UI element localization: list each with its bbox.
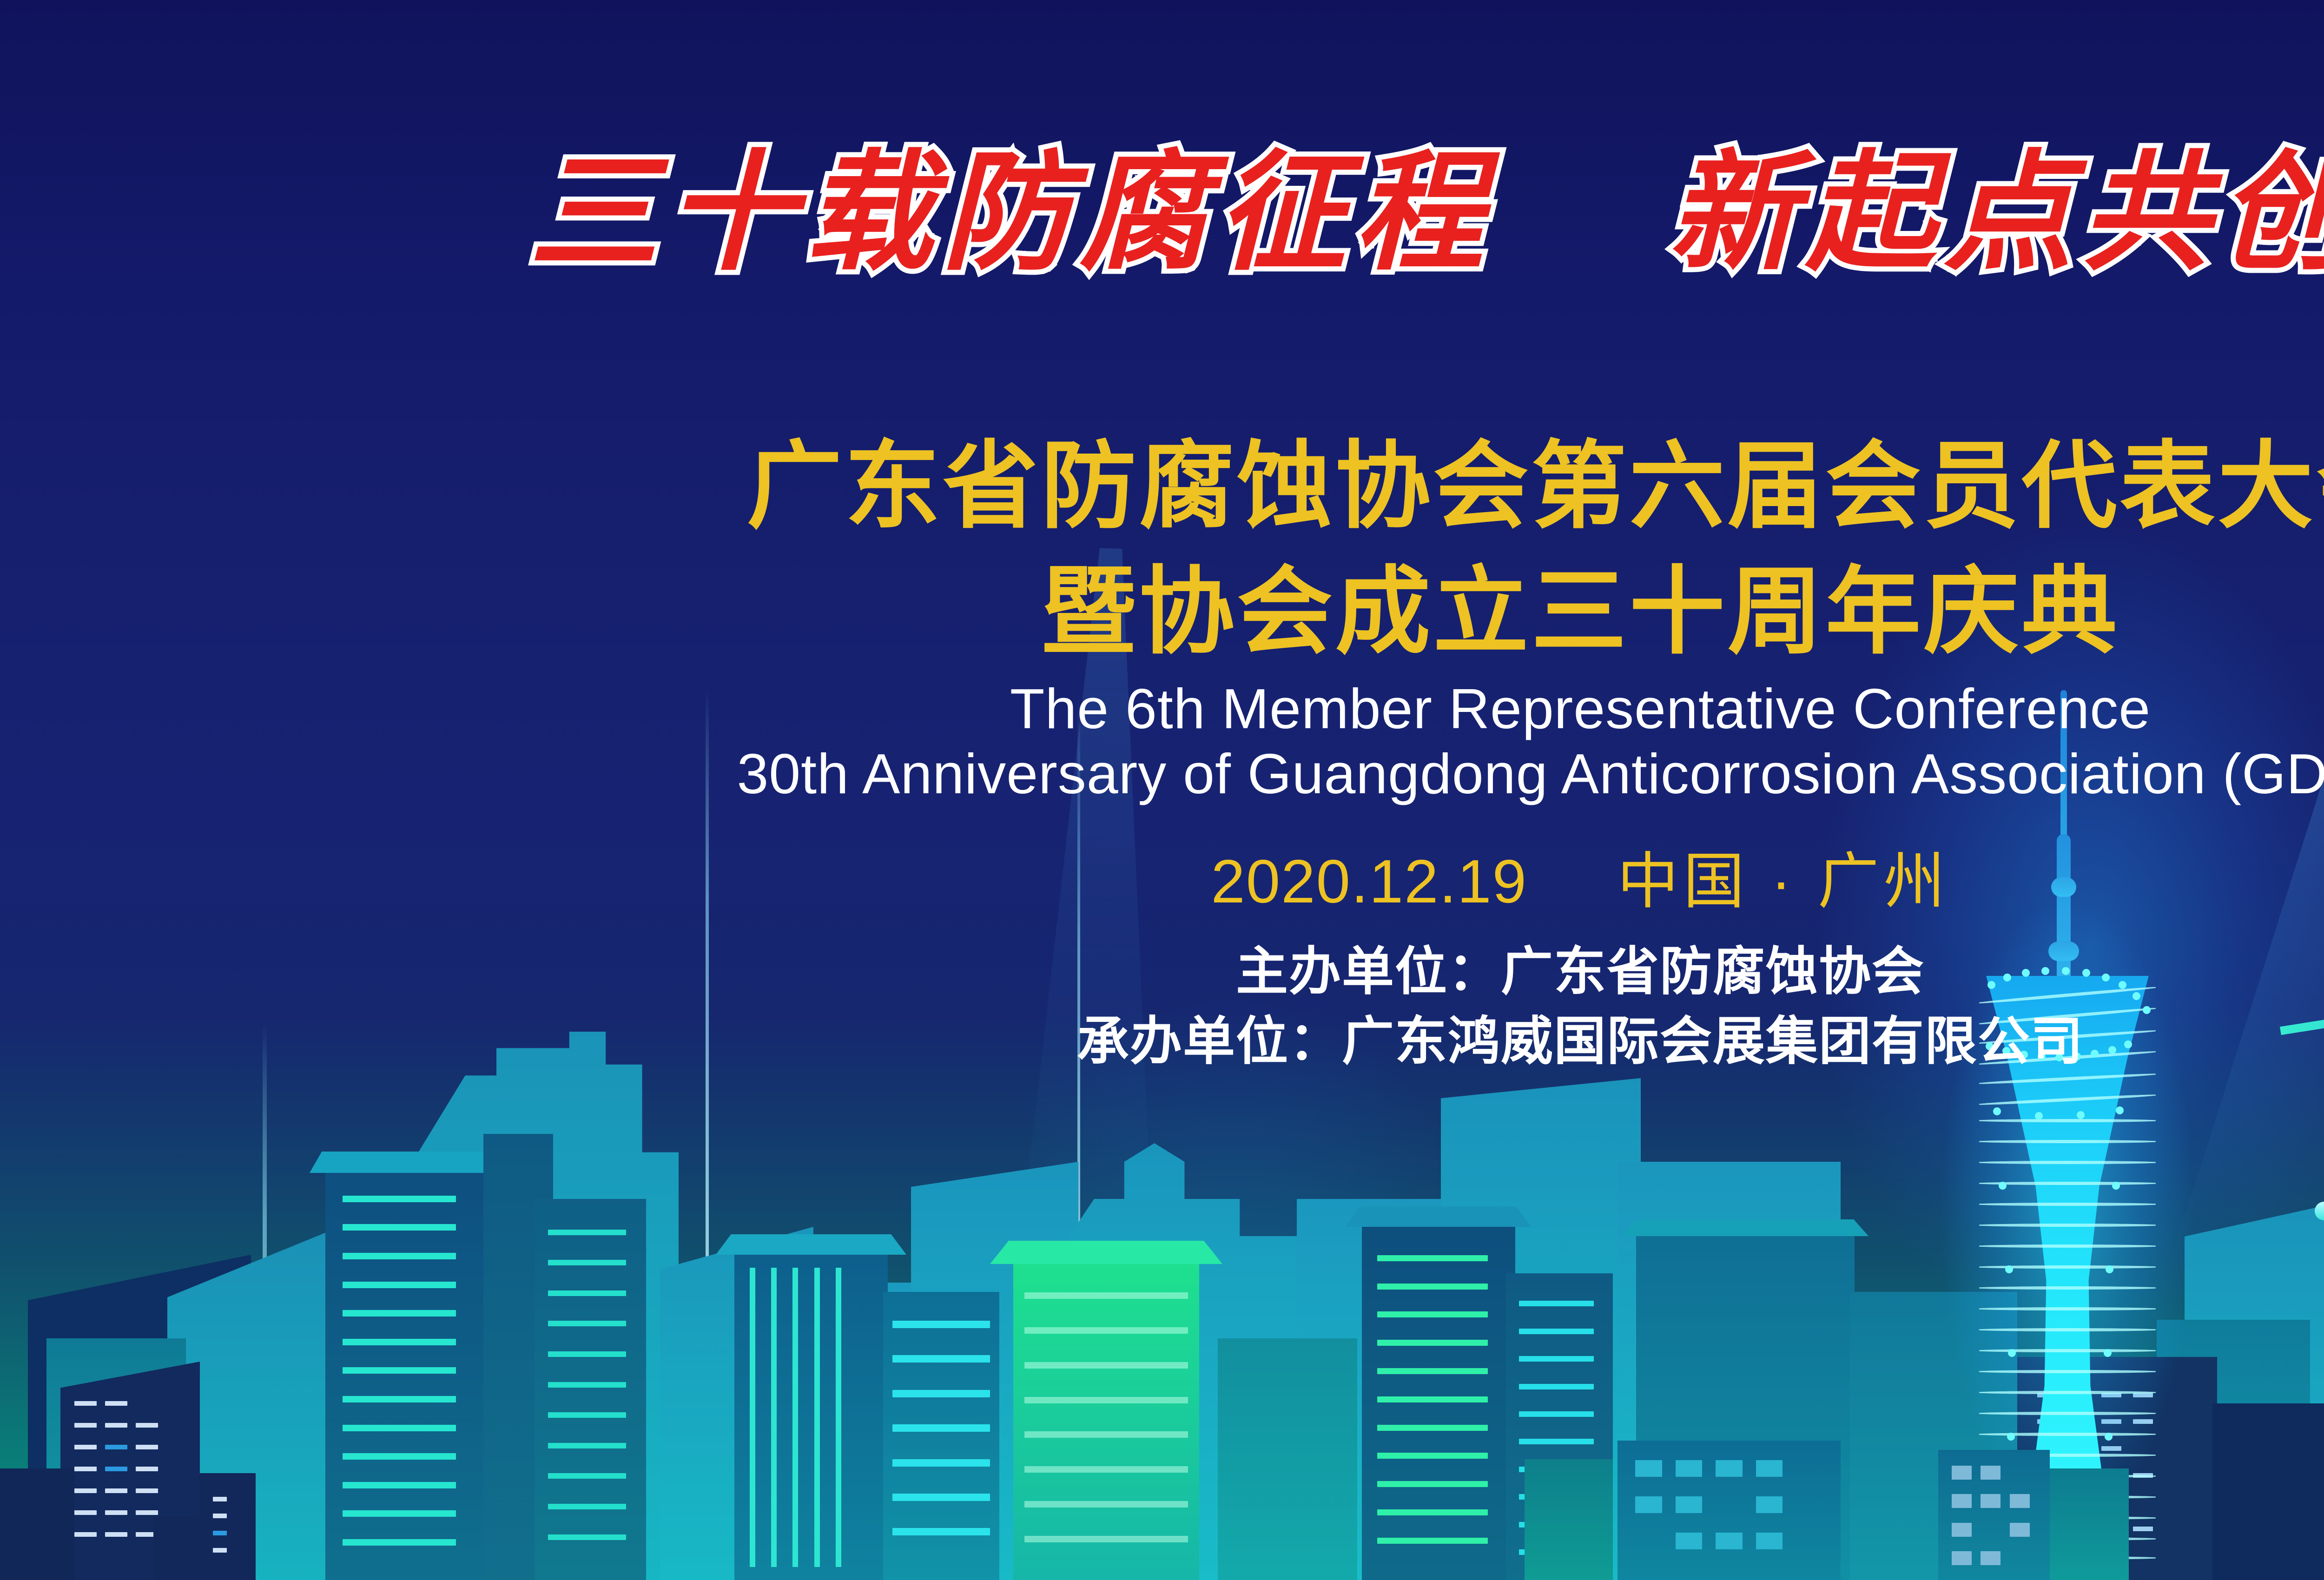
building-fg-teal	[2050, 1468, 2129, 1580]
skyline-layer-foreground	[0, 1431, 2324, 1580]
title-en-line1: The 6th Member Representative Conference	[0, 676, 2324, 741]
title-cn-line1: 广东省防腐蚀协会第六届会员代表大会	[0, 409, 2324, 547]
canton-tower	[1979, 678, 2156, 1561]
building-fg-grid	[1618, 1441, 1841, 1580]
organizer-cohost: 承办单位：广东鸿威国际会展集团有限公司	[0, 999, 2324, 1074]
organizer-host: 主办单位：广东省防腐蚀协会	[0, 929, 2324, 1005]
banner-canvas: 三十载防腐征程 新起点共创辉煌 广东省防腐蚀协会第六届会员代表大会 暨协会成立三…	[0, 0, 2324, 1580]
headline-left: 三十载防腐征程	[529, 148, 1492, 277]
building-fg-grid	[1938, 1450, 2050, 1580]
title-cn-line2: 暨协会成立三十周年庆典	[0, 534, 2324, 672]
event-location: 中国 · 广州	[1617, 847, 1949, 915]
title-en-line2: 30th Anniversary of Guangdong Anticorros…	[0, 741, 2324, 806]
headline-calligraphy: 三十载防腐征程 新起点共创辉煌	[0, 148, 2324, 277]
building-fg-teal	[1525, 1459, 1613, 1580]
event-date: 2020.12.19	[1211, 847, 1527, 915]
headline-right: 新起点共创辉煌	[1669, 148, 2324, 277]
event-date-location: 2020.12.19 中国 · 广州	[0, 832, 2324, 921]
